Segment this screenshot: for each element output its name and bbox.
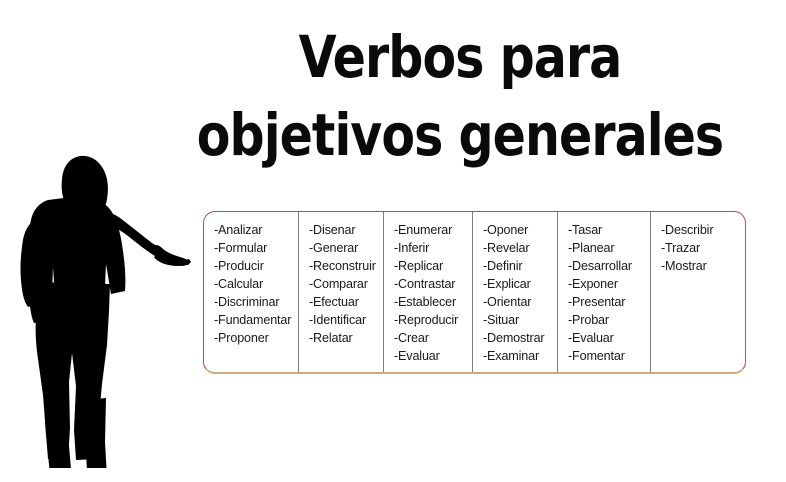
verb-item: -Explicar [483, 275, 557, 293]
verb-column-2: -Disenar -Generar -Reconstruir -Comparar… [299, 212, 384, 372]
verb-item: -Calcular [214, 275, 298, 293]
verb-item: -Inferir [394, 239, 472, 257]
verb-item: -Mostrar [661, 257, 744, 275]
verb-table: -Analizar -Formular -Producir -Calcular … [203, 211, 746, 374]
verb-item: -Planear [568, 239, 650, 257]
verb-column-3: -Enumerar -Inferir -Replicar -Contrastar… [384, 212, 473, 372]
verb-item: -Presentar [568, 293, 650, 311]
verb-item: -Describir [661, 221, 744, 239]
verb-item: -Fundamentar [214, 311, 298, 329]
verb-item: -Disenar [309, 221, 383, 239]
verb-item: -Desarrollar [568, 257, 650, 275]
verb-item: -Efectuar [309, 293, 383, 311]
verb-item: -Oponer [483, 221, 557, 239]
verb-item: -Generar [309, 239, 383, 257]
page-title-line-1: Verbos para [169, 18, 752, 96]
verb-item: -Tasar [568, 221, 650, 239]
verb-column-6: -Describir -Trazar -Mostrar [651, 212, 744, 372]
verb-item: -Fomentar [568, 347, 650, 365]
verb-item: -Demostrar [483, 329, 557, 347]
verb-item: -Situar [483, 311, 557, 329]
verb-item: -Probar [568, 311, 650, 329]
verb-item: -Crear [394, 329, 472, 347]
verb-item: -Orientar [483, 293, 557, 311]
verb-item: -Identificar [309, 311, 383, 329]
verb-item: -Producir [214, 257, 298, 275]
page-title: Verbos para objetivos generales [150, 18, 770, 174]
verb-item: -Enumerar [394, 221, 472, 239]
verb-item: -Reconstruir [309, 257, 383, 275]
verb-item: -Proponer [214, 329, 298, 347]
verb-item: -Comparar [309, 275, 383, 293]
verb-item: -Replicar [394, 257, 472, 275]
page-title-line-2: objetivos generales [169, 96, 752, 174]
verb-item: -Discriminar [214, 293, 298, 311]
verb-item: -Formular [214, 239, 298, 257]
verb-item: -Evaluar [568, 329, 650, 347]
verb-item: -Evaluar [394, 347, 472, 365]
verb-item: -Relatar [309, 329, 383, 347]
verb-item: -Establecer [394, 293, 472, 311]
verb-item: -Definir [483, 257, 557, 275]
verb-item: -Reproducir [394, 311, 472, 329]
verb-column-1: -Analizar -Formular -Producir -Calcular … [204, 212, 299, 372]
verb-column-4: -Oponer -Revelar -Definir -Explicar -Ori… [473, 212, 558, 372]
verb-item: -Revelar [483, 239, 557, 257]
verb-item: -Analizar [214, 221, 298, 239]
verb-column-5: -Tasar -Planear -Desarrollar -Exponer -P… [558, 212, 651, 372]
verb-item: -Exponer [568, 275, 650, 293]
verb-item: -Examinar [483, 347, 557, 365]
verb-item: -Contrastar [394, 275, 472, 293]
presenter-silhouette-icon [8, 138, 198, 468]
verb-item: -Trazar [661, 239, 744, 257]
